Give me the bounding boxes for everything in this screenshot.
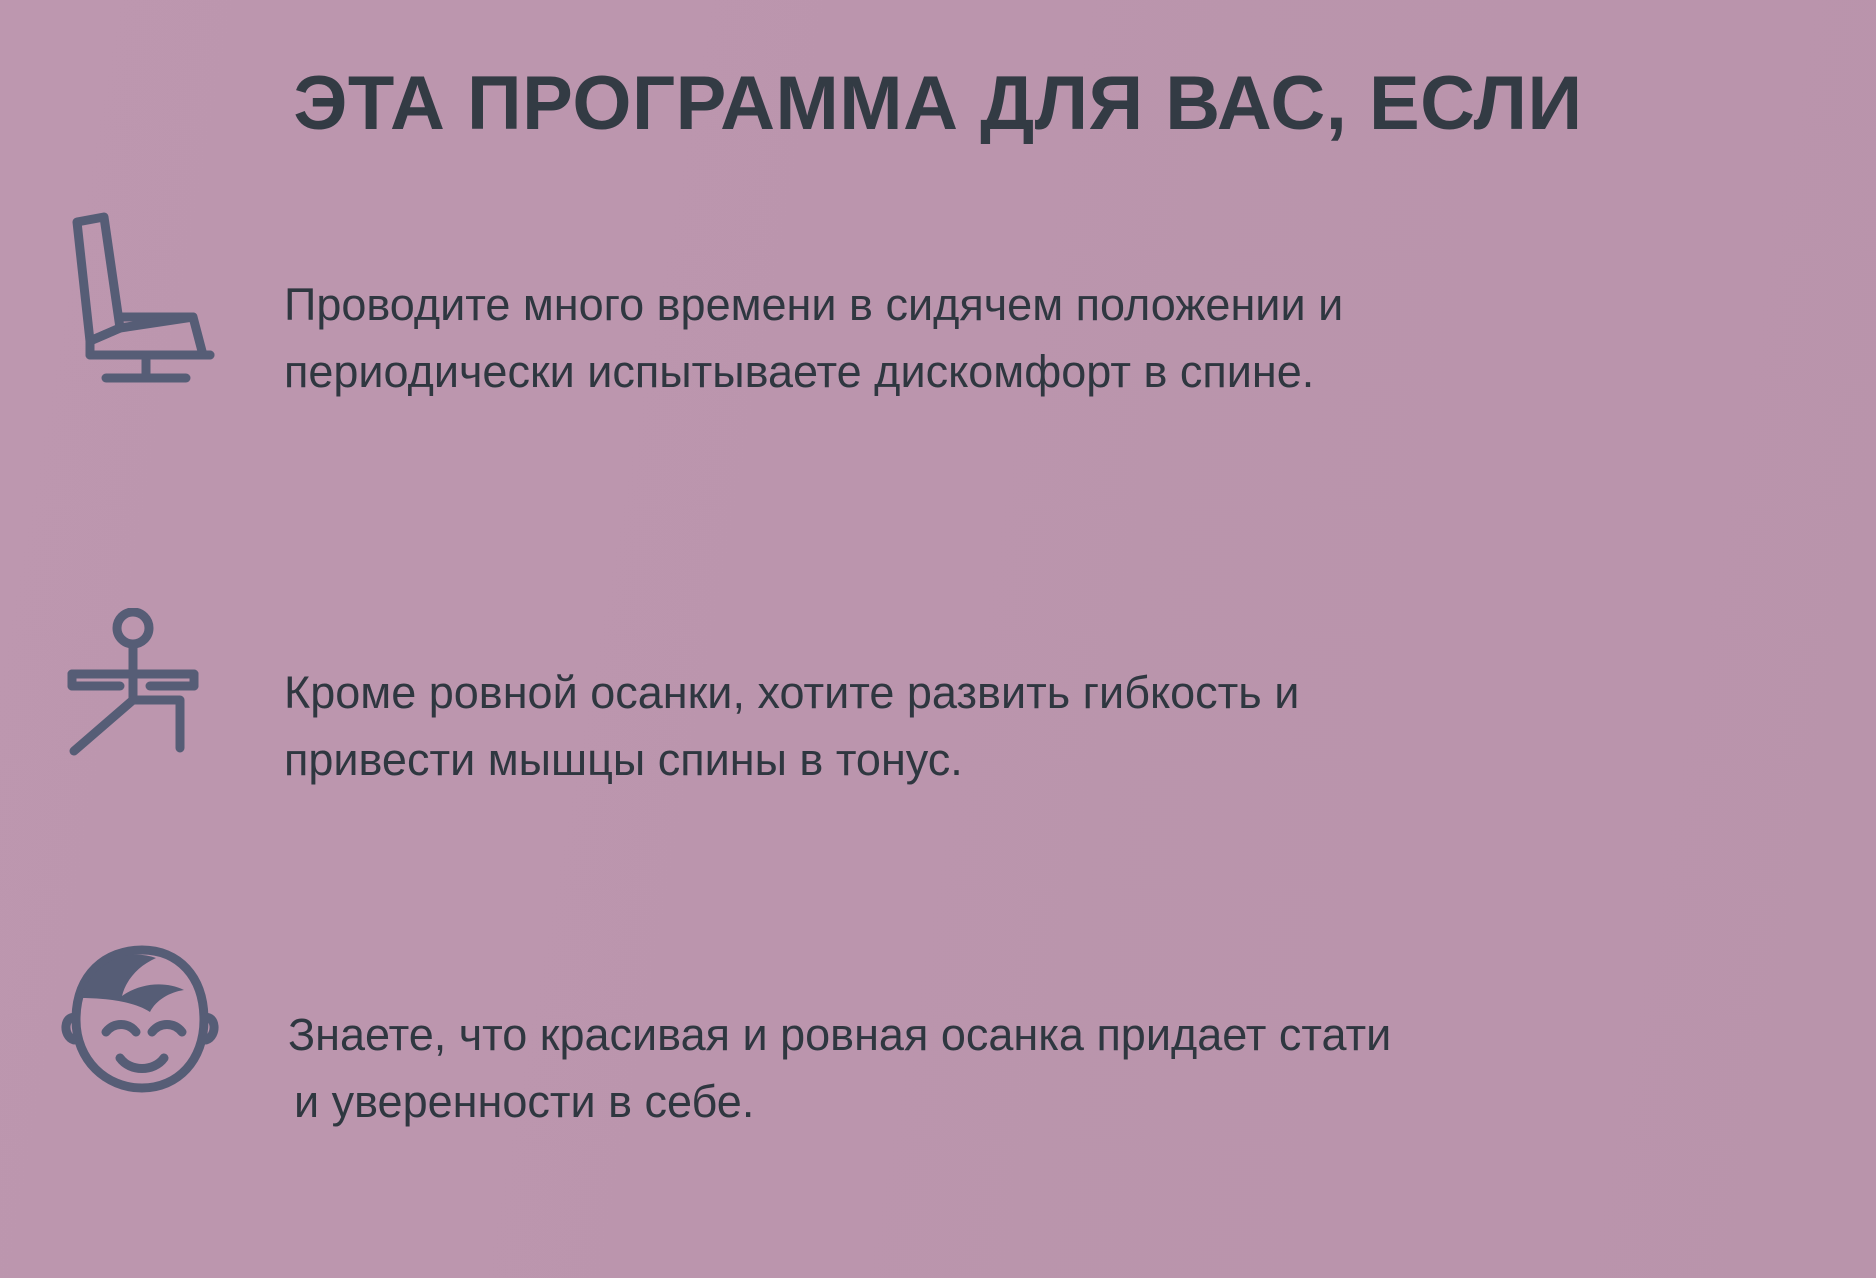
list-item: Проводите много времени в сидячем положе… xyxy=(60,210,1780,405)
list-item-text: Знаете, что красивая и ровная осанка при… xyxy=(252,940,1792,1135)
stretching-person-icon xyxy=(60,608,260,773)
office-chair-icon xyxy=(60,210,260,385)
list-item-line-1: Проводите много времени в сидячем положе… xyxy=(284,272,1780,339)
smiling-face-icon xyxy=(52,940,252,1105)
list-item-line-1: Кроме ровной осанки, хотите развить гибк… xyxy=(284,660,1780,727)
list-item-line-2: и уверенности в себе. xyxy=(288,1069,1792,1136)
list-item-line-2: привести мышцы спины в тонус. xyxy=(284,727,1780,794)
slide-root: ЭТА ПРОГРАММА ДЛЯ ВАС, ЕСЛИ Пров xyxy=(0,0,1876,1278)
list-item-text: Кроме ровной осанки, хотите развить гибк… xyxy=(260,608,1780,793)
page-title: ЭТА ПРОГРАММА ДЛЯ ВАС, ЕСЛИ xyxy=(0,62,1876,146)
list-item-text: Проводите много времени в сидячем положе… xyxy=(260,210,1780,405)
list-item-line-1: Знаете, что красивая и ровная осанка при… xyxy=(288,1002,1792,1069)
list-item-line-2: периодически испытываете дискомфорт в сп… xyxy=(284,339,1780,406)
list-item: Знаете, что красивая и ровная осанка при… xyxy=(52,940,1792,1135)
list-item: Кроме ровной осанки, хотите развить гибк… xyxy=(60,608,1780,793)
